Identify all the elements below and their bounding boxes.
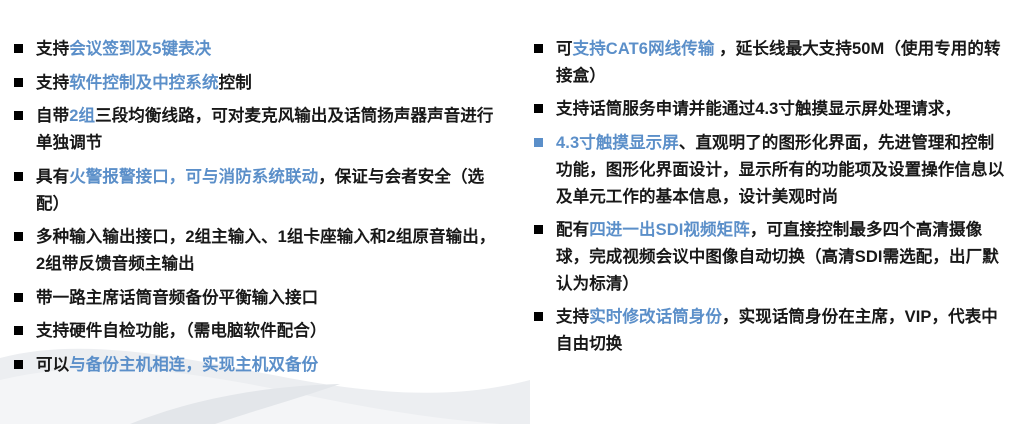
highlighted-text-run: 支持CAT6网线传输 <box>573 40 715 58</box>
text-run: 自带 <box>36 107 69 125</box>
square-bullet-black <box>14 44 23 53</box>
square-bullet-black <box>14 232 23 241</box>
bullet-text: 具有火警报警接口，可与消防系统联动，保证与会者安全（选配） <box>36 164 502 217</box>
square-bullet-black <box>14 111 23 120</box>
square-bullet-black <box>14 360 23 369</box>
bullet-item: 4.3寸触摸显示屏、直观明了的图形化界面，先进管理和控制功能，图形化界面设计，显… <box>534 130 1010 210</box>
bullet-item: 支持软件控制及中控系统控制 <box>14 70 502 97</box>
text-run: 支持 <box>556 308 589 326</box>
highlighted-text-run: 四进一出SDI视频矩阵 <box>589 221 750 239</box>
text-run: 具有 <box>36 168 69 186</box>
bullet-text: 支持话筒服务申请并能通过4.3寸触摸显示屏处理请求， <box>556 96 1010 123</box>
bullet-item: 配有四进一出SDI视频矩阵，可直接控制最多四个高清摄像球，完成视频会议中图像自动… <box>534 217 1010 297</box>
text-run: 可 <box>556 40 573 58</box>
square-bullet-black <box>14 78 23 87</box>
bullet-item: 可以与备份主机相连，实现主机双备份 <box>14 352 502 379</box>
square-bullet-accent <box>534 138 543 147</box>
bullet-text: 多种输入输出接口，2组主输入、1组卡座输入和2组原音输出，2组带反馈音频主输出 <box>36 224 502 277</box>
bullet-item: 支持实时修改话筒身份，实现话筒身份在主席，VIP，代表中自由切换 <box>534 304 1010 357</box>
text-run: 配有 <box>556 221 589 239</box>
text-run: 控制 <box>219 74 252 92</box>
text-run: 可以 <box>36 356 69 374</box>
bullet-text: 支持会议签到及5键表决 <box>36 36 502 63</box>
bullet-text: 可支持CAT6网线传输 ，延长线最大支持50M（使用专用的转接盒） <box>556 36 1010 89</box>
highlighted-text-run: 4.3寸触摸显示屏 <box>556 134 679 152</box>
bullet-item: 可支持CAT6网线传输 ，延长线最大支持50M（使用专用的转接盒） <box>534 36 1010 89</box>
right-bullet-column: 可支持CAT6网线传输 ，延长线最大支持50M（使用专用的转接盒）支持话筒服务申… <box>512 36 1024 365</box>
bullet-item: 多种输入输出接口，2组主输入、1组卡座输入和2组原音输出，2组带反馈音频主输出 <box>14 224 502 277</box>
bullet-text: 配有四进一出SDI视频矩阵，可直接控制最多四个高清摄像球，完成视频会议中图像自动… <box>556 217 1010 297</box>
bullet-text: 4.3寸触摸显示屏、直观明了的图形化界面，先进管理和控制功能，图形化界面设计，显… <box>556 130 1010 210</box>
bullet-item: 支持硬件自检功能，（需电脑软件配合） <box>14 318 502 345</box>
bullet-text: 支持软件控制及中控系统控制 <box>36 70 502 97</box>
text-run: 带一路主席话筒音频备份平衡输入接口 <box>36 289 318 307</box>
text-run: 支持 <box>36 74 69 92</box>
square-bullet-black <box>14 326 23 335</box>
bullet-item: 支持会议签到及5键表决 <box>14 36 502 63</box>
highlighted-text-run: 2组 <box>69 107 95 125</box>
highlighted-text-run: 会议签到及5键表决 <box>69 40 211 58</box>
text-run: 多种输入输出接口，2组主输入、1组卡座输入和2组原音输出，2组带反馈音频主输出 <box>36 228 495 273</box>
bullet-text: 自带2组三段均衡线路，可对麦克风输出及话筒扬声器声音进行单独调节 <box>36 103 502 156</box>
bullet-text: 支持实时修改话筒身份，实现话筒身份在主席，VIP，代表中自由切换 <box>556 304 1010 357</box>
left-bullet-column: 支持会议签到及5键表决支持软件控制及中控系统控制自带2组三段均衡线路，可对麦克风… <box>0 36 512 386</box>
text-run: 支持话筒服务申请并能通过4.3寸触摸显示屏处理请求， <box>556 100 961 118</box>
text-run: 支持 <box>36 40 69 58</box>
bullet-text: 带一路主席话筒音频备份平衡输入接口 <box>36 285 502 312</box>
highlighted-text-run: 火警报警接口，可与消防系统联动 <box>69 168 318 186</box>
text-run: 支持硬件自检功能，（需电脑软件配合） <box>36 322 327 340</box>
bullet-item: 支持话筒服务申请并能通过4.3寸触摸显示屏处理请求， <box>534 96 1010 123</box>
square-bullet-black <box>14 172 23 181</box>
square-bullet-black <box>14 293 23 302</box>
bullet-text: 支持硬件自检功能，（需电脑软件配合） <box>36 318 502 345</box>
highlighted-text-run: 软件控制及中控系统 <box>69 74 218 92</box>
square-bullet-black <box>534 104 543 113</box>
bullet-item: 具有火警报警接口，可与消防系统联动，保证与会者安全（选配） <box>14 164 502 217</box>
slide-content: 支持会议签到及5键表决支持软件控制及中控系统控制自带2组三段均衡线路，可对麦克风… <box>0 0 1024 424</box>
square-bullet-black <box>534 44 543 53</box>
text-run: 三段均衡线路，可对麦克风输出及话筒扬声器声音进行单独调节 <box>36 107 494 152</box>
bullet-text: 可以与备份主机相连，实现主机双备份 <box>36 352 502 379</box>
highlighted-text-run: 与备份主机相连，实现主机双备份 <box>69 356 318 374</box>
highlighted-text-run: 实时修改话筒身份 <box>589 308 722 326</box>
bullet-item: 带一路主席话筒音频备份平衡输入接口 <box>14 285 502 312</box>
bullet-item: 自带2组三段均衡线路，可对麦克风输出及话筒扬声器声音进行单独调节 <box>14 103 502 156</box>
square-bullet-black <box>534 225 543 234</box>
square-bullet-black <box>534 312 543 321</box>
